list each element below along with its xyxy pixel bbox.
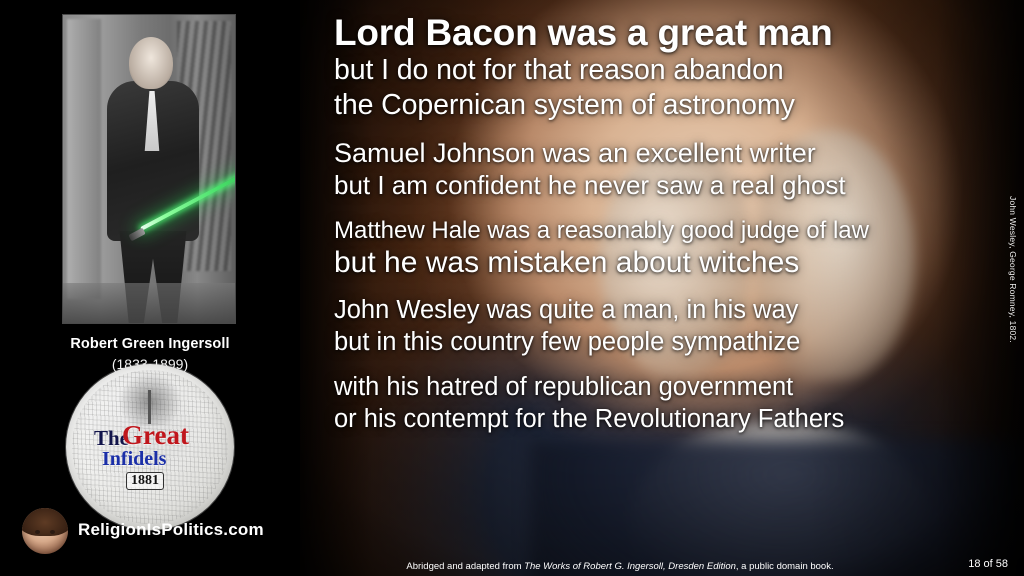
source-prefix: Abridged and adapted from (406, 561, 524, 572)
photo-figure-head (129, 37, 173, 89)
slide-canvas: Robert Green Ingersoll (1833-1899) The G… (0, 0, 1024, 576)
quote-line: the Copernican system of astronomy (334, 88, 930, 123)
ingersoll-photograph (62, 14, 236, 324)
quote-group: John Wesley was quite a man, in his wayb… (334, 295, 930, 358)
photo-floor (63, 283, 235, 323)
quote-line: Samuel Johnson was an excellent writer (334, 137, 930, 170)
quote-line: but in this country few people sympathiz… (334, 327, 930, 359)
source-note: Abridged and adapted from The Works of R… (300, 561, 940, 572)
source-title: The Works of Robert G. Ingersoll, Dresde… (524, 561, 736, 572)
quote-group: Matthew Hale was a reasonably good judge… (334, 216, 930, 281)
quote-line: Matthew Hale was a reasonably good judge… (334, 216, 930, 245)
quote-line: but he was mistaken about witches (334, 245, 930, 281)
avatar-hair (22, 508, 68, 536)
quote-group: Lord Bacon was a great manbut I do not f… (334, 12, 930, 123)
portrait-caption-name: Robert Green Ingersoll (0, 336, 300, 352)
site-brand[interactable]: ReligionIsPolitics.com (22, 508, 300, 558)
artwork-credit: John Wesley, George Romney, 1802. (1008, 196, 1018, 343)
quote-line: or his contempt for the Revolutionary Fa… (334, 404, 930, 436)
avatar-eye-left (35, 530, 40, 534)
source-suffix: , a public domain book. (736, 561, 834, 572)
quote-line: John Wesley was quite a man, in his way (334, 295, 930, 327)
site-url-label: ReligionIsPolitics.com (78, 520, 264, 540)
badge-year: 1881 (126, 472, 164, 490)
quote-line: with his hatred of republican government (334, 372, 930, 404)
left-panel: Robert Green Ingersoll (1833-1899) The G… (0, 0, 300, 576)
quote-line: but I do not for that reason abandon (334, 53, 930, 88)
avatar (22, 508, 68, 554)
badge-tree-icon (118, 372, 182, 426)
quote-group: with his hatred of republican government… (334, 372, 930, 435)
avatar-eye-right (50, 530, 55, 534)
quote-line: but I am confident he never saw a real g… (334, 170, 930, 202)
photo-pillar (67, 19, 101, 299)
quote-group: Samuel Johnson was an excellent writerbu… (334, 137, 930, 202)
quote-block: Lord Bacon was a great manbut I do not f… (334, 12, 930, 449)
quote-line: Lord Bacon was a great man (334, 12, 930, 53)
great-infidels-badge[interactable]: The Great Infidels 1881 (66, 392, 234, 502)
badge-word-infidels: Infidels (102, 448, 166, 471)
page-number: 18 of 58 (968, 558, 1008, 570)
badge-word-great: Great (122, 420, 189, 451)
